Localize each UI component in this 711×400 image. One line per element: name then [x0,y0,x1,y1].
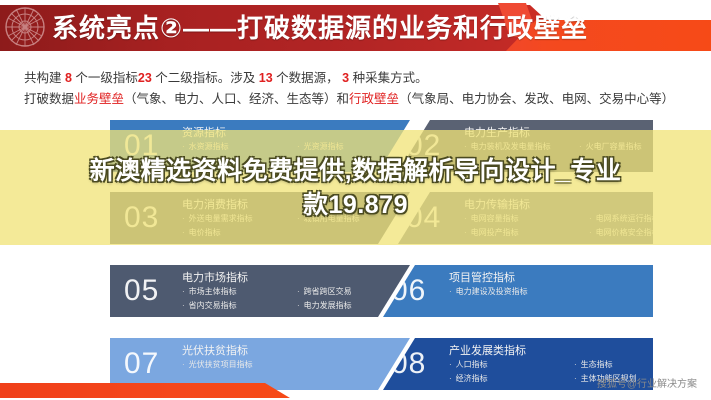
indicator-card-07[interactable]: 07 光伏扶贫指标 光伏扶贫项目指标 [110,338,410,390]
card-title: 电力市场指标 [182,269,248,285]
card-bullet-item: 火电厂容量指标 [579,140,694,154]
card-number: 05 [124,272,159,310]
card-title: 电力传输指标 [464,196,530,212]
card-bullet-item: 电网投产指标 [464,226,589,240]
card-bullet-item: 电网系统运行指标 [589,212,711,226]
header-title: 系统亮点②——打破数据源的业务和行政壁垒 [52,8,588,48]
card-bullet-item: 外送电量需求指标 [182,212,297,226]
slide-header: 系统亮点②——打破数据源的业务和行政壁垒 [0,0,711,55]
footer-orange-bar [0,383,290,398]
intro-line-2: 打破数据业务壁垒（气象、电力、人口、经济、生态等）和行政壁垒（气象局、电力协会、… [24,89,684,110]
card-bullet-item: 水资源指标 [182,140,297,154]
indicator-card-01[interactable]: 01 资源指标 水资源指标光资源指标 [110,120,410,172]
card-bullet-item: 电网容量指标 [464,212,589,226]
card-bullet-item: 经济指标 [449,372,574,386]
card-title: 资源指标 [182,124,226,140]
card-number: 07 [124,345,159,383]
card-bullet-item: 电力建设及投资指标 [449,285,679,299]
indicator-card-05[interactable]: 05 电力市场指标 市场主体指标跨省跨区交易省内交易指标电力发展指标 [110,265,410,317]
indicator-card-03[interactable]: 03 电力消费指标 外送电量需求指标城镇用电量指标电价指标 [110,192,410,244]
indicator-card-grid: 01 资源指标 水资源指标光资源指标 02 电力生产指标 电力装机及发电量指标火… [0,120,711,385]
card-bullet-item: 电网价格安全指标 [589,226,711,240]
card-bullets: 电力装机及发电量指标火电厂容量指标 [464,140,694,154]
card-number: 01 [124,127,159,165]
card-bullets: 电网容量指标电网系统运行指标电网投产指标电网价格安全指标 [464,212,711,240]
card-bullets: 市场主体指标跨省跨区交易省内交易指标电力发展指标 [182,285,412,313]
card-bullet-item: 光资源指标 [297,140,412,154]
intro-text-block: 共构建 8 个一级指标23 个二级指标。涉及 13 个数据源， 3 种采集方式。… [24,68,684,110]
card-bullets: 外送电量需求指标城镇用电量指标电价指标 [182,212,412,240]
card-bullets: 水资源指标光资源指标 [182,140,412,154]
card-bullet-item: 电价指标 [182,226,297,240]
card-bullets: 电力建设及投资指标 [449,285,679,299]
footer-source-label: 搜狐号@行业解决方案 [597,375,697,390]
card-bullet-item: 省内交易指标 [182,299,297,313]
card-bullet-item: 跨省跨区交易 [297,285,412,299]
slide-root: 系统亮点②——打破数据源的业务和行政壁垒 共构建 8 个一级指标23 个二级指标… [0,0,711,400]
card-bullet-item: 城镇用电量指标 [297,212,412,226]
card-number: 03 [124,199,159,237]
card-title: 光伏扶贫指标 [182,342,248,358]
card-title: 电力生产指标 [464,124,530,140]
card-title: 项目管控指标 [449,269,515,285]
card-bullet-item: 生态指标 [574,358,699,372]
card-bullet-item: 光伏扶贫项目指标 [182,358,412,372]
card-bullet-item: 人口指标 [449,358,574,372]
card-bullets: 光伏扶贫项目指标 [182,358,412,372]
indicator-card-04[interactable]: 04 电力传输指标 电网容量指标电网系统运行指标电网投产指标电网价格安全指标 [398,192,653,244]
indicator-card-02[interactable]: 02 电力生产指标 电力装机及发电量指标火电厂容量指标 [398,120,653,172]
card-title: 产业发展类指标 [449,342,526,358]
seal-emblem-icon [2,2,48,52]
card-number: 02 [406,127,441,165]
intro-line-1: 共构建 8 个一级指标23 个二级指标。涉及 13 个数据源， 3 种采集方式。 [24,68,684,89]
indicator-card-06[interactable]: 06 项目管控指标 电力建设及投资指标 [383,265,653,317]
card-number: 04 [406,199,441,237]
card-title: 电力消费指标 [182,196,248,212]
card-bullet-item: 市场主体指标 [182,285,297,299]
card-bullet-item: 电力装机及发电量指标 [464,140,579,154]
